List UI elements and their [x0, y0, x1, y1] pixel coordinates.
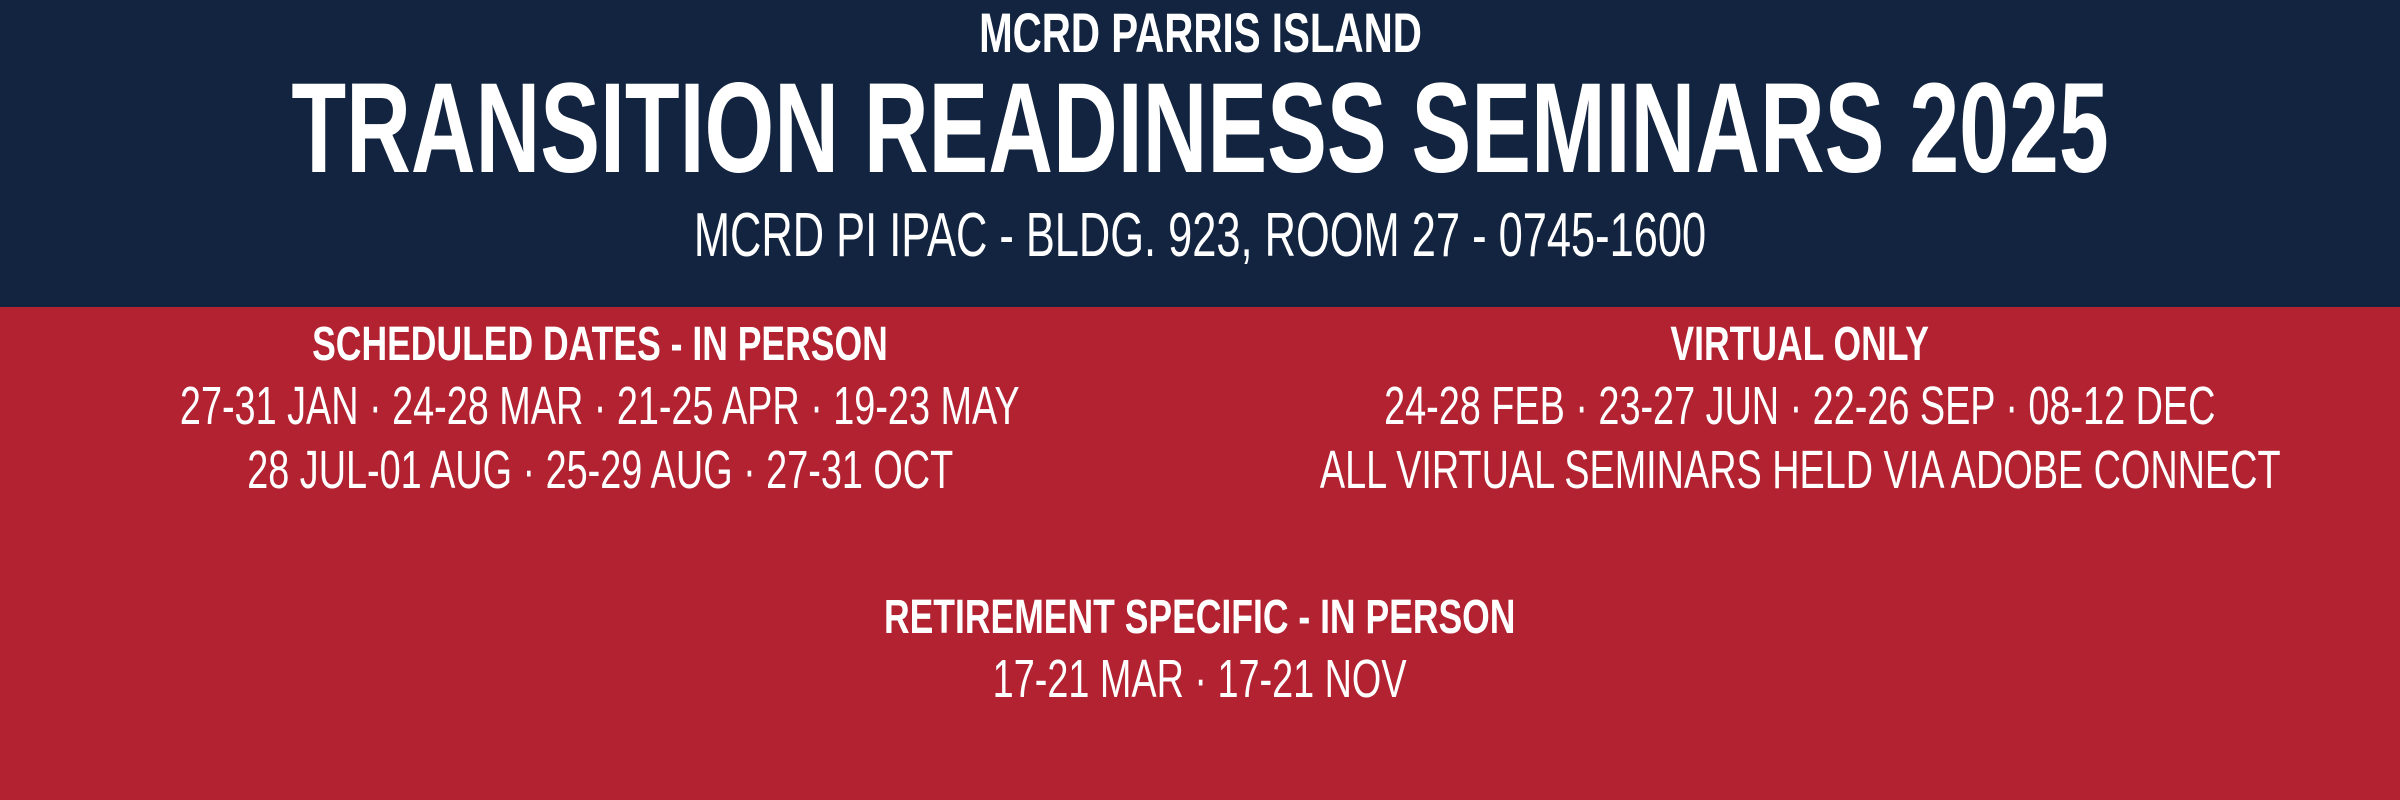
in-person-dates-line-2: 28 JUL-01 AUG · 25-29 AUG · 27-31 OCT — [247, 440, 953, 500]
in-person-heading: SCHEDULED DATES - IN PERSON — [312, 319, 888, 372]
virtual-dates-line-1: 24-28 FEB · 23-27 JUN · 22-26 SEP · 08-1… — [1384, 376, 2215, 436]
transition-readiness-seminar-banner: MCRD PARRIS ISLAND TRANSITION READINESS … — [0, 0, 2400, 800]
virtual-column: VIRTUAL ONLY 24-28 FEB · 23-27 JUN · 22-… — [1200, 319, 2400, 501]
retirement-heading: RETIREMENT SPECIFIC - IN PERSON — [884, 592, 1516, 645]
location-time-subtitle: MCRD PI IPAC - BLDG. 923, ROOM 27 - 0745… — [694, 203, 1706, 268]
schedule-columns: SCHEDULED DATES - IN PERSON 27-31 JAN · … — [0, 319, 2400, 501]
in-person-column: SCHEDULED DATES - IN PERSON 27-31 JAN · … — [0, 319, 1200, 501]
banner-header: MCRD PARRIS ISLAND TRANSITION READINESS … — [0, 0, 2400, 307]
virtual-platform-note: ALL VIRTUAL SEMINARS HELD VIA ADOBE CONN… — [1320, 440, 2281, 500]
installation-name: MCRD PARRIS ISLAND — [979, 4, 1422, 63]
virtual-heading: VIRTUAL ONLY — [1671, 319, 1930, 372]
retirement-section: RETIREMENT SPECIFIC - IN PERSON 17-21 MA… — [0, 592, 2400, 709]
retirement-dates-line-1: 17-21 MAR · 17-21 NOV — [993, 649, 1407, 709]
in-person-dates-line-1: 27-31 JAN · 24-28 MAR · 21-25 APR · 19-2… — [180, 376, 1020, 436]
page-title: TRANSITION READINESS SEMINARS 2025 — [291, 65, 2108, 193]
banner-body: SCHEDULED DATES - IN PERSON 27-31 JAN · … — [0, 307, 2400, 800]
